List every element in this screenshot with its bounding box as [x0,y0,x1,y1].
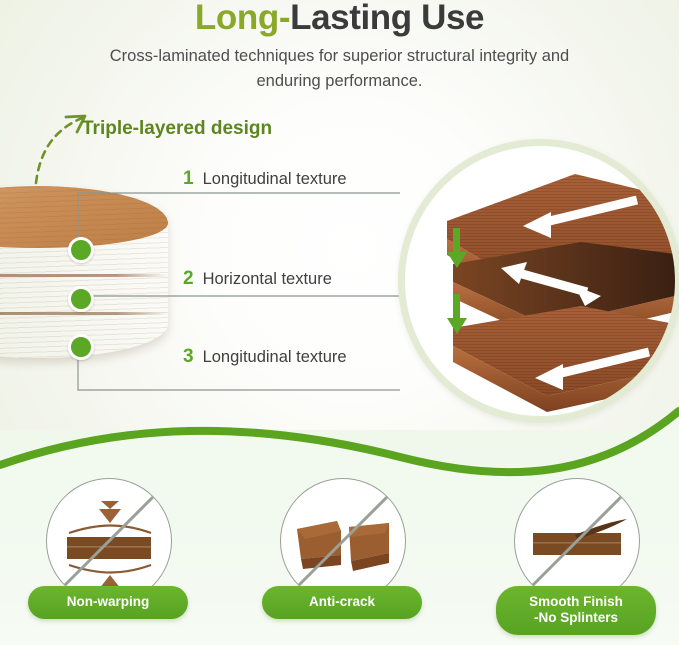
layer-number-3: 3 [183,346,194,367]
feature-smooth-finish[interactable]: Smooth Finish -No Splinters [486,478,666,638]
layer-marker-3 [68,334,94,360]
layer-label-3: Longitudinal texture [203,348,347,366]
page-title-highlight: Long- [195,0,290,37]
feature-anti-crack[interactable]: Anti-crack [252,478,432,638]
page-title-rest: Lasting Use [290,0,484,37]
page-title: Long-Lasting Use [0,0,679,38]
layer-label-2: Horizontal texture [203,270,332,288]
layer-number-2: 2 [183,268,194,289]
layer-row-1: 1Longitudinal texture [183,168,347,190]
layer-marker-2 [68,286,94,312]
feature-label-2: Anti-crack [309,594,375,609]
feature-non-warping[interactable]: Non-warping [18,478,198,638]
feature-badge-label: Non-warping [28,586,188,619]
callout-heading: Triple-layered design [82,118,272,140]
layer-row-2: 2Horizontal texture [183,268,332,290]
infographic-root: Long-Lasting Use Cross-laminated techniq… [0,0,679,645]
page-subtitle: Cross-laminated techniques for superior … [88,44,591,94]
layer-marker-1 [68,237,94,263]
layer-row-3: 3Longitudinal texture [183,346,347,368]
feature-label-3-line2: -No Splinters [534,610,618,625]
feature-label-3: Smooth Finish [529,594,623,609]
feature-badge-label: Smooth Finish -No Splinters [496,586,656,635]
exploded-layer-diagram [405,146,675,416]
layer-label-1: Longitudinal texture [203,170,347,188]
feature-badge-label: Anti-crack [262,586,422,619]
layer-number-1: 1 [183,168,194,189]
exploded-layer-inset [398,139,679,423]
feature-label-1: Non-warping [67,594,150,609]
